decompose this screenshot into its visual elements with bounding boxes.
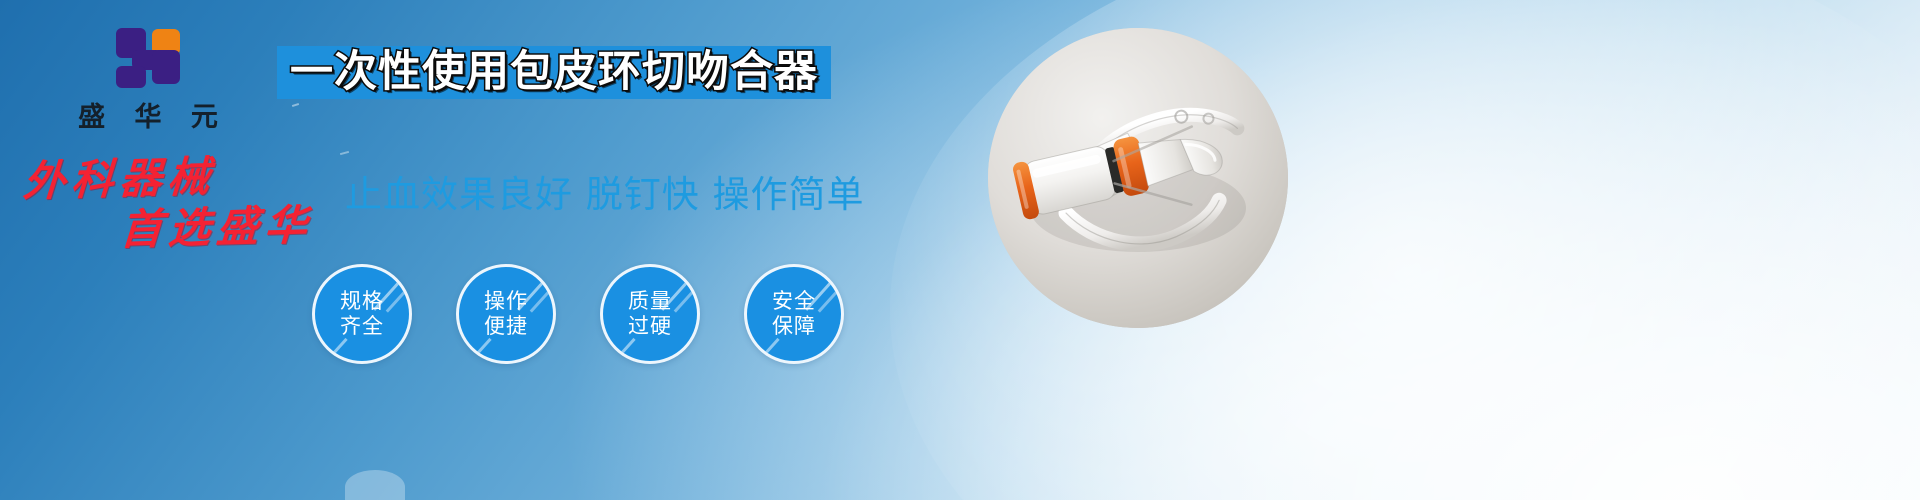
gloss-streak-icon bbox=[613, 338, 635, 362]
feature-badge-line-1: 操作 bbox=[484, 289, 528, 314]
background-artifact bbox=[292, 103, 299, 107]
feature-badge-label: 安全 保障 bbox=[772, 289, 816, 339]
feature-badge-list: 规格 齐全 操作 便捷 质量 过硬 bbox=[312, 264, 844, 364]
feature-badge-line-2: 保障 bbox=[772, 314, 816, 339]
feature-badge-label: 质量 过硬 bbox=[628, 289, 672, 339]
feature-badge-line-1: 安全 bbox=[772, 289, 816, 314]
feature-badge-line-1: 规格 bbox=[340, 289, 384, 314]
page-title: 一次性使用包皮环切吻合器 bbox=[290, 51, 818, 94]
feature-badge-label: 操作 便捷 bbox=[484, 289, 528, 339]
logo-block-bottom-left bbox=[116, 66, 146, 88]
product-photo[interactable] bbox=[988, 28, 1288, 328]
logo-block-bottom-right bbox=[152, 50, 180, 84]
background-artifact bbox=[345, 470, 405, 500]
feature-badge-quality[interactable]: 质量 过硬 bbox=[600, 264, 700, 364]
gloss-streak-icon bbox=[469, 338, 491, 362]
brand-logo[interactable]: 盛 华 元 bbox=[63, 28, 233, 134]
surgical-stapler-illustration bbox=[988, 28, 1288, 328]
calligraphy-line-2: 首选盛华 bbox=[119, 201, 314, 253]
calligraphy-line-1: 外科器械 bbox=[22, 152, 217, 206]
feature-badge-specs[interactable]: 规格 齐全 bbox=[312, 264, 412, 364]
calligraphy-slogan: 外科器械 首选盛华 bbox=[19, 150, 318, 256]
feature-badge-line-2: 过硬 bbox=[628, 314, 672, 339]
gloss-streak-icon bbox=[530, 291, 550, 312]
promo-banner: 盛 华 元 一次性使用包皮环切吻合器 外科器械 首选盛华 止血效果良好 脱钉快 … bbox=[0, 0, 1920, 500]
gloss-streak-icon bbox=[325, 338, 347, 362]
feature-badge-line-1: 质量 bbox=[628, 289, 672, 314]
subtitle-text: 止血效果良好 脱钉快 操作简单 bbox=[345, 164, 865, 218]
gloss-streak-icon bbox=[757, 338, 779, 362]
gloss-streak-icon bbox=[674, 291, 694, 312]
background-artifact bbox=[340, 151, 349, 155]
product-title-bar: 一次性使用包皮环切吻合器 bbox=[277, 46, 831, 99]
feature-badge-line-2: 齐全 bbox=[340, 314, 384, 339]
gloss-streak-icon bbox=[386, 291, 406, 312]
feature-badge-operation[interactable]: 操作 便捷 bbox=[456, 264, 556, 364]
brand-name: 盛 华 元 bbox=[63, 95, 233, 134]
feature-badge-line-2: 便捷 bbox=[484, 314, 528, 339]
feature-badge-label: 规格 齐全 bbox=[340, 289, 384, 339]
gloss-streak-icon bbox=[818, 291, 838, 312]
feature-badge-safety[interactable]: 安全 保障 bbox=[744, 264, 844, 364]
logo-mark-icon bbox=[116, 28, 180, 88]
